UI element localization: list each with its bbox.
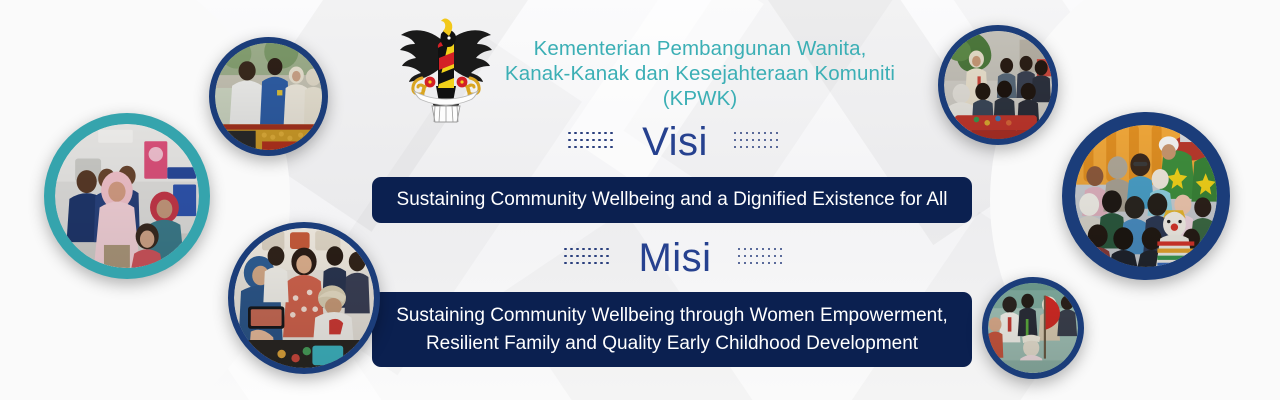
decor-dot bbox=[734, 139, 737, 142]
decor-dot bbox=[600, 262, 603, 265]
misi-heading-row: Misi bbox=[450, 238, 900, 278]
decor-dot bbox=[738, 255, 741, 258]
decor-dot bbox=[756, 255, 759, 258]
decor-dot bbox=[610, 146, 613, 149]
photo-bubble-community-workshop bbox=[228, 222, 380, 374]
decor-dot bbox=[762, 262, 765, 265]
decor-dot bbox=[752, 146, 755, 149]
decor-dot bbox=[592, 139, 595, 142]
decor-dot bbox=[588, 262, 591, 265]
decor-dot bbox=[568, 139, 571, 142]
dot-grid-left-visi bbox=[568, 132, 616, 153]
decor-dot bbox=[598, 139, 601, 142]
decor-dot bbox=[568, 146, 571, 149]
decor-dot bbox=[746, 146, 749, 149]
decor-dot bbox=[580, 132, 583, 135]
decor-dot bbox=[574, 139, 577, 142]
decor-dot bbox=[580, 139, 583, 142]
decor-dot bbox=[580, 146, 583, 149]
decor-dot bbox=[758, 146, 761, 149]
photo-children-activity bbox=[944, 31, 1052, 139]
misi-statement-text: Sustaining Community Wellbeing through W… bbox=[396, 302, 948, 357]
decor-dot bbox=[588, 255, 591, 258]
decor-dot bbox=[744, 262, 747, 265]
decor-dot bbox=[606, 262, 609, 265]
decor-dot bbox=[752, 132, 755, 135]
decor-dot bbox=[604, 146, 607, 149]
decor-dot bbox=[776, 146, 779, 149]
decor-dot bbox=[586, 132, 589, 135]
decor-dot bbox=[570, 255, 573, 258]
decor-dot bbox=[600, 248, 603, 251]
decor-dot bbox=[738, 248, 741, 251]
decor-dot bbox=[564, 255, 567, 258]
decor-dot bbox=[610, 132, 613, 135]
photo-bubble-market-stall bbox=[209, 37, 328, 156]
decor-dot bbox=[604, 132, 607, 135]
decor-dot bbox=[592, 132, 595, 135]
photo-market-stall bbox=[215, 43, 322, 150]
decor-dot bbox=[598, 132, 601, 135]
decor-dot bbox=[592, 146, 595, 149]
decor-dot bbox=[758, 132, 761, 135]
ministry-title-line-1: Kementerian Pembangunan Wanita, bbox=[495, 36, 905, 61]
decor-dot bbox=[582, 255, 585, 258]
decor-dot bbox=[764, 132, 767, 135]
decor-dot bbox=[606, 248, 609, 251]
decor-dot bbox=[594, 248, 597, 251]
misi-statement-line-2: Resilient Family and Quality Early Child… bbox=[426, 333, 918, 354]
decor-dot bbox=[768, 262, 771, 265]
decor-dot bbox=[774, 262, 777, 265]
decor-dot bbox=[564, 248, 567, 251]
decor-dot bbox=[774, 248, 777, 251]
visi-statement-band: Sustaining Community Wellbeing and a Dig… bbox=[372, 177, 972, 223]
photo-bubble-minister-visit bbox=[44, 113, 210, 279]
decor-dot bbox=[756, 262, 759, 265]
misi-statement-band: Sustaining Community Wellbeing through W… bbox=[372, 292, 972, 367]
decor-dot bbox=[586, 139, 589, 142]
decor-dot bbox=[768, 255, 771, 258]
decor-dot bbox=[586, 146, 589, 149]
decor-dot bbox=[576, 255, 579, 258]
dot-grid-left-misi bbox=[564, 248, 612, 269]
kpwk-visi-misi-banner: Kementerian Pembangunan Wanita, Kanak-Ka… bbox=[0, 0, 1280, 400]
visi-heading-row: Visi bbox=[450, 122, 900, 162]
photo-bubble-group-event bbox=[1062, 112, 1230, 280]
decor-dot bbox=[770, 139, 773, 142]
decor-dot bbox=[764, 146, 767, 149]
decor-dot bbox=[740, 132, 743, 135]
photo-minister-visit bbox=[55, 124, 199, 268]
decor-dot bbox=[582, 262, 585, 265]
misi-statement-line-1: Sustaining Community Wellbeing through W… bbox=[396, 305, 948, 326]
decor-dot bbox=[740, 146, 743, 149]
decor-dot bbox=[758, 139, 761, 142]
decor-dot bbox=[776, 132, 779, 135]
decor-dot bbox=[744, 255, 747, 258]
decor-dot bbox=[574, 146, 577, 149]
decor-dot bbox=[752, 139, 755, 142]
decor-dot bbox=[568, 132, 571, 135]
decor-dot bbox=[738, 262, 741, 265]
decor-dot bbox=[774, 255, 777, 258]
decor-dot bbox=[764, 139, 767, 142]
photo-bubble-community-gathering bbox=[982, 277, 1084, 379]
misi-heading: Misi bbox=[638, 238, 711, 278]
visi-statement-text: Sustaining Community Wellbeing and a Dig… bbox=[397, 189, 948, 211]
decor-dot bbox=[776, 139, 779, 142]
decor-dot bbox=[768, 248, 771, 251]
decor-dot bbox=[576, 262, 579, 265]
decor-dot bbox=[770, 146, 773, 149]
decor-dot bbox=[780, 248, 783, 251]
decor-dot bbox=[570, 248, 573, 251]
decor-dot bbox=[594, 262, 597, 265]
decor-dot bbox=[588, 248, 591, 251]
decor-dot bbox=[750, 248, 753, 251]
ministry-title-line-2: Kanak-Kanak dan Kesejahteraan Komuniti bbox=[495, 61, 905, 86]
photo-community-gathering bbox=[988, 283, 1078, 373]
ministry-title-line-3: (KPWK) bbox=[495, 86, 905, 111]
photo-bubble-children-activity bbox=[938, 25, 1058, 145]
decor-dot bbox=[598, 146, 601, 149]
decor-dot bbox=[750, 255, 753, 258]
decor-dot bbox=[740, 139, 743, 142]
visi-heading: Visi bbox=[642, 122, 708, 162]
decor-dot bbox=[570, 262, 573, 265]
photo-group-event bbox=[1075, 125, 1217, 267]
decor-dot bbox=[762, 255, 765, 258]
decor-dot bbox=[576, 248, 579, 251]
decor-dot bbox=[744, 248, 747, 251]
decor-dot bbox=[582, 248, 585, 251]
decor-dot bbox=[780, 255, 783, 258]
decor-dot bbox=[574, 132, 577, 135]
decor-dot bbox=[734, 146, 737, 149]
decor-dot bbox=[780, 262, 783, 265]
decor-dot bbox=[750, 262, 753, 265]
decor-dot bbox=[756, 248, 759, 251]
decor-dot bbox=[770, 132, 773, 135]
decor-dot bbox=[600, 255, 603, 258]
decor-dot bbox=[746, 139, 749, 142]
decor-dot bbox=[606, 255, 609, 258]
sarawak-coat-of-arms-icon bbox=[392, 14, 500, 124]
photo-community-workshop bbox=[234, 228, 374, 368]
decor-dot bbox=[762, 248, 765, 251]
decor-dot bbox=[610, 139, 613, 142]
dot-grid-right-misi bbox=[738, 248, 786, 269]
decor-dot bbox=[746, 132, 749, 135]
decor-dot bbox=[734, 132, 737, 135]
dot-grid-right-visi bbox=[734, 132, 782, 153]
decor-dot bbox=[564, 262, 567, 265]
ministry-title: Kementerian Pembangunan Wanita, Kanak-Ka… bbox=[495, 36, 905, 111]
decor-dot bbox=[594, 255, 597, 258]
decor-dot bbox=[604, 139, 607, 142]
